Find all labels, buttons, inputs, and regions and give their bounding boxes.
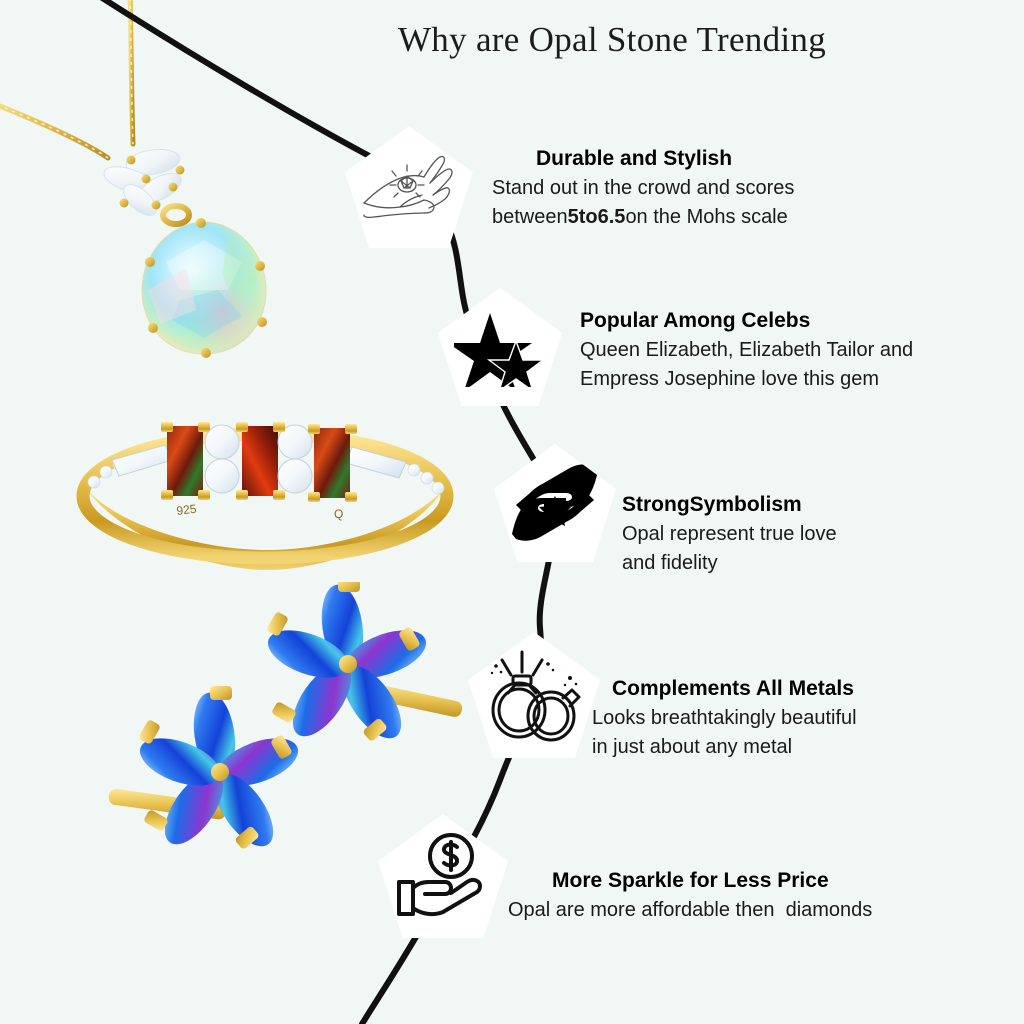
step-5-line-1: Opal are more affordable then diamonds <box>508 896 872 925</box>
page-title-text: Why are Opal Stone Trending <box>198 20 826 60</box>
hand-with-ring-icon <box>360 145 458 229</box>
page-title: Why are Opal Stone Trending <box>0 20 1024 60</box>
step-1-line-2-post: on the Mohs scale <box>625 206 787 228</box>
step-2-line-2: Empress Josephine love this gem <box>580 365 913 394</box>
step-1-heading: Durable and Stylish <box>492 146 794 172</box>
infographic-canvas: 925 Q <box>0 0 1024 1024</box>
step-1-line-2-pre: between <box>492 206 568 228</box>
step-1-mohs-value: 5to6.5 <box>568 206 626 228</box>
step-3-heading: StrongSymbolism <box>622 492 837 518</box>
step-4-line-1: Looks breathtakingly beautiful <box>592 704 857 733</box>
step-2-badge[interactable] <box>438 288 562 406</box>
fire-opal-band-ring-photo: 925 Q <box>62 400 462 580</box>
step-1-text: Durable and Stylish Stand out in the cro… <box>492 146 794 232</box>
step-1-line-2: between5to6.5on the Mohs scale <box>492 203 794 232</box>
svg-text:Q: Q <box>334 507 343 521</box>
two-stars-icon <box>454 307 546 387</box>
step-2-line-1: Queen Elizabeth, Elizabeth Tailor and <box>580 336 913 365</box>
hands-holding-star-icon <box>510 460 600 546</box>
step-4-line-2: in just about any metal <box>592 733 857 762</box>
step-4-text: Complements All Metals Looks breathtakin… <box>592 676 857 762</box>
step-3-line-1: Opal represent true love <box>622 520 837 549</box>
interlocking-rings-icon <box>482 648 586 742</box>
step-5-text: More Sparkle for Less Price Opal are mor… <box>508 868 872 925</box>
step-3-badge[interactable] <box>494 444 616 562</box>
step-5-heading: More Sparkle for Less Price <box>508 868 872 894</box>
step-1-line-1: Stand out in the crowd and scores <box>492 174 794 203</box>
step-2-text: Popular Among Celebs Queen Elizabeth, El… <box>580 308 913 394</box>
step-4-badge[interactable] <box>468 632 600 758</box>
step-2-heading: Popular Among Celebs <box>580 308 913 334</box>
step-1-badge[interactable] <box>345 126 473 248</box>
svg-text:925: 925 <box>176 502 198 518</box>
step-3-text: StrongSymbolism Opal represent true love… <box>622 492 837 578</box>
step-3-line-2: and fidelity <box>622 549 837 578</box>
step-4-heading: Complements All Metals <box>592 676 857 702</box>
hand-with-dollar-coin-icon <box>393 830 493 922</box>
